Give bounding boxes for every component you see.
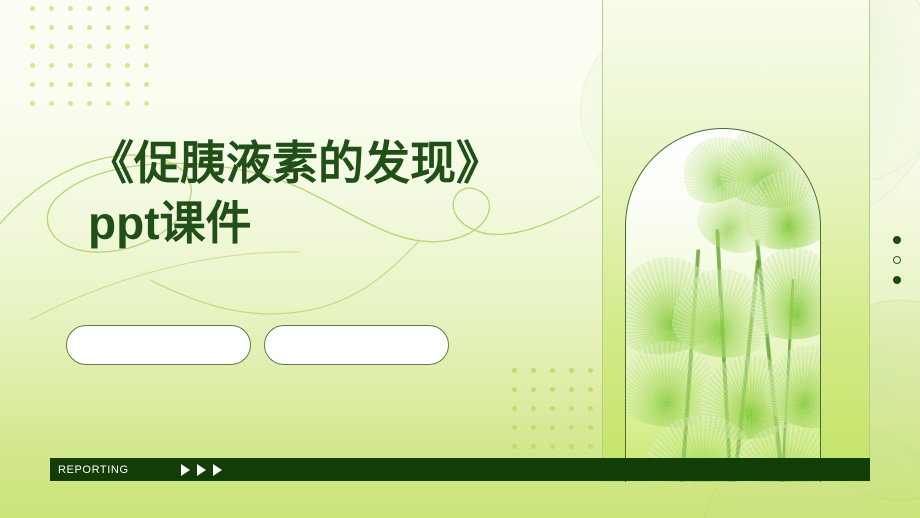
decoration-dot bbox=[125, 101, 130, 106]
decoration-dot bbox=[106, 101, 111, 106]
decoration-dot bbox=[49, 63, 54, 68]
decoration-dot bbox=[87, 44, 92, 49]
decoration-dot bbox=[87, 63, 92, 68]
decoration-dot bbox=[550, 368, 555, 373]
decoration-dot bbox=[531, 444, 536, 449]
decoration-dot bbox=[144, 6, 149, 11]
decoration-dot bbox=[106, 6, 111, 11]
decoration-dot bbox=[144, 82, 149, 87]
decoration-dot bbox=[512, 406, 517, 411]
decorative-image-block bbox=[602, 0, 870, 482]
progress-dot-hollow[interactable] bbox=[893, 256, 901, 264]
arch-frame bbox=[625, 128, 821, 482]
decoration-dot bbox=[588, 425, 593, 430]
decoration-dot bbox=[512, 368, 517, 373]
play-triangle-icon bbox=[213, 464, 222, 476]
decoration-dot bbox=[550, 425, 555, 430]
decoration-dot bbox=[531, 406, 536, 411]
decoration-dot bbox=[87, 6, 92, 11]
decoration-dot bbox=[106, 63, 111, 68]
decoration-dot bbox=[68, 63, 73, 68]
decoration-dot bbox=[49, 82, 54, 87]
decoration-dot bbox=[49, 6, 54, 11]
page-title: 《促胰液素的发现》 ppt课件 bbox=[88, 133, 558, 253]
decoration-dot bbox=[68, 82, 73, 87]
decoration-dot bbox=[588, 444, 593, 449]
decoration-dot bbox=[68, 25, 73, 30]
decoration-dot bbox=[125, 44, 130, 49]
decoration-dot bbox=[144, 44, 149, 49]
decoration-dot bbox=[550, 406, 555, 411]
decoration-dot bbox=[512, 425, 517, 430]
decoration-dot bbox=[106, 82, 111, 87]
decoration-dot bbox=[144, 63, 149, 68]
decoration-dot bbox=[588, 368, 593, 373]
decoration-dot bbox=[588, 406, 593, 411]
play-triangle-icon bbox=[181, 464, 190, 476]
placeholder-pill-left[interactable] bbox=[66, 325, 251, 365]
decoration-dot bbox=[144, 101, 149, 106]
decoration-dot bbox=[68, 101, 73, 106]
decoration-dot bbox=[569, 368, 574, 373]
decoration-dot bbox=[531, 387, 536, 392]
footer-arrows bbox=[181, 464, 222, 476]
slide-progress-dots[interactable] bbox=[893, 236, 901, 284]
lotus-leaf-illustration bbox=[626, 129, 820, 482]
presentation-slide: 《促胰液素的发现》 ppt课件 bbox=[0, 0, 920, 518]
decoration-dot bbox=[125, 6, 130, 11]
decoration-dot bbox=[512, 387, 517, 392]
decoration-dot bbox=[125, 25, 130, 30]
dot-grid-decoration-top-left bbox=[30, 6, 164, 114]
decoration-dot bbox=[30, 82, 35, 87]
placeholder-pill-right[interactable] bbox=[264, 325, 449, 365]
decoration-dot bbox=[87, 101, 92, 106]
decoration-dot bbox=[30, 6, 35, 11]
decoration-dot bbox=[106, 44, 111, 49]
decoration-dot bbox=[531, 368, 536, 373]
decoration-dot bbox=[512, 444, 517, 449]
decoration-dot bbox=[87, 82, 92, 87]
footer-bar: REPORTING bbox=[50, 458, 870, 481]
decoration-dot bbox=[550, 444, 555, 449]
decoration-dot bbox=[30, 25, 35, 30]
decoration-dot bbox=[144, 25, 149, 30]
dot-grid-decoration-bottom bbox=[512, 368, 604, 446]
decoration-dot bbox=[30, 101, 35, 106]
decoration-dot bbox=[30, 63, 35, 68]
decoration-dot bbox=[87, 25, 92, 30]
decoration-dot bbox=[531, 425, 536, 430]
footer-label: REPORTING bbox=[58, 464, 129, 476]
decoration-dot bbox=[588, 387, 593, 392]
progress-dot-filled[interactable] bbox=[893, 236, 901, 244]
decoration-dot bbox=[569, 425, 574, 430]
decoration-dot bbox=[68, 6, 73, 11]
decoration-dot bbox=[49, 101, 54, 106]
progress-dot-filled[interactable] bbox=[893, 276, 901, 284]
decoration-dot bbox=[569, 406, 574, 411]
decoration-dot bbox=[125, 63, 130, 68]
play-triangle-icon bbox=[197, 464, 206, 476]
decoration-dot bbox=[49, 25, 54, 30]
decoration-dot bbox=[106, 25, 111, 30]
decoration-dot bbox=[569, 444, 574, 449]
decoration-dot bbox=[30, 44, 35, 49]
decoration-dot bbox=[550, 387, 555, 392]
decoration-dot bbox=[569, 387, 574, 392]
decoration-dot bbox=[49, 44, 54, 49]
decoration-dot bbox=[68, 44, 73, 49]
decoration-dot bbox=[125, 82, 130, 87]
